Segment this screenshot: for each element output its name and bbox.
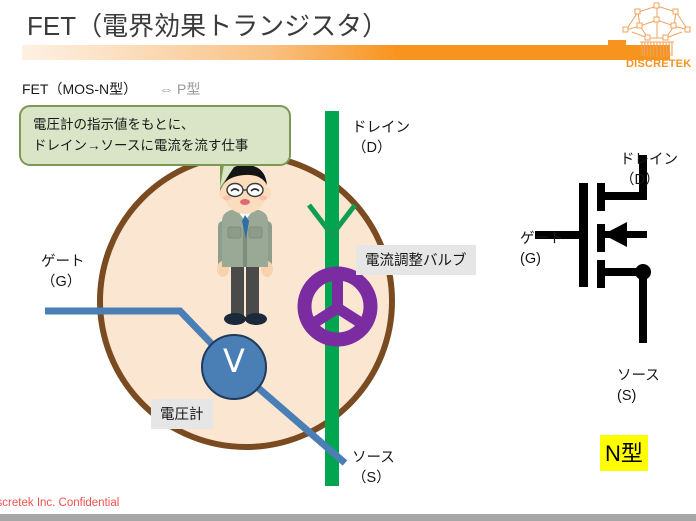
subtitle-caption: FET（MOS-N型）⇔ P型 bbox=[22, 79, 200, 99]
worker-illustration bbox=[201, 163, 289, 328]
discretek-logo: DISCRETEK bbox=[620, 0, 694, 72]
symbol-label-gate: ゲート (G) bbox=[520, 229, 564, 269]
page-title: FET（電界効果トランジスタ） bbox=[27, 6, 388, 43]
title-accent-bar bbox=[22, 45, 670, 60]
flow-direction-arrow-icon bbox=[307, 203, 357, 239]
footer-confidential-text: iscretek Inc. Confidential bbox=[0, 497, 119, 509]
valve-tag: 電流調整バルブ bbox=[356, 245, 476, 275]
n-type-badge: N型 bbox=[600, 435, 648, 471]
voltmeter-symbol: V bbox=[203, 345, 265, 377]
logo-accent-swatch bbox=[608, 40, 626, 60]
symbol-label-drain: ドレイン （D） bbox=[620, 150, 678, 190]
analogy-label-source: ソース （S） bbox=[352, 448, 395, 488]
speech-bubble: 電圧計の指示値をもとに、 ドレイン→ソースに電流を流す仕事 bbox=[19, 105, 291, 166]
flow-control-valve-icon bbox=[297, 266, 378, 347]
analogy-label-drain: ドレイン （D） bbox=[352, 118, 410, 158]
logo-wordmark: DISCRETEK bbox=[626, 58, 691, 70]
subtitle-alt: ⇔ P型 bbox=[159, 81, 200, 97]
subtitle-main: FET（MOS-N型） bbox=[22, 81, 137, 97]
voltmeter-gauge: V bbox=[201, 334, 267, 400]
footer-bar bbox=[0, 514, 696, 521]
slide-canvas: FET（電界効果トランジスタ） bbox=[0, 0, 696, 521]
symbol-label-source: ソース (S) bbox=[617, 366, 660, 406]
speech-bubble-text: 電圧計の指示値をもとに、 ドレイン→ソースに電流を流す仕事 bbox=[33, 114, 248, 156]
voltmeter-tag: 電圧計 bbox=[151, 399, 213, 429]
analogy-label-gate: ゲート （G） bbox=[41, 252, 85, 292]
